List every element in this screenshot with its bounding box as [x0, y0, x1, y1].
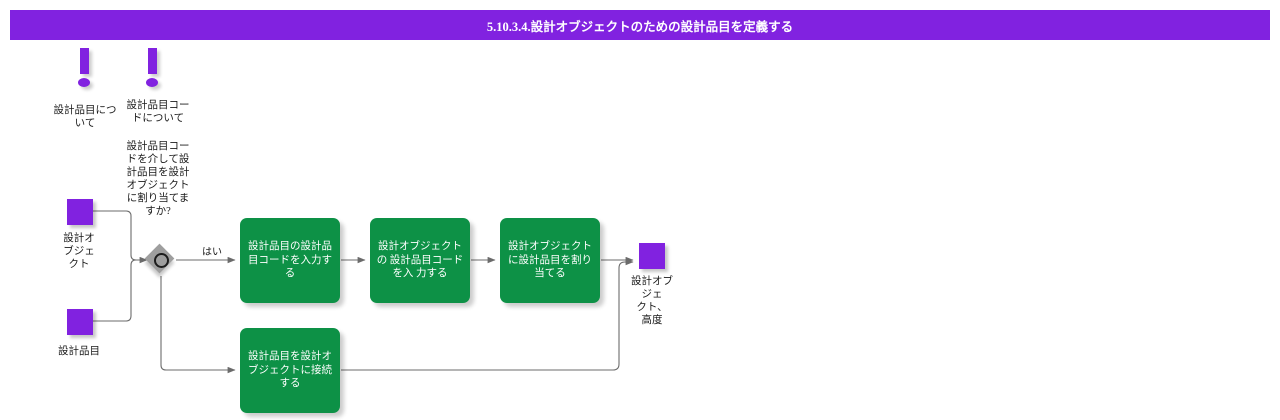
task-label: 設計オブジェクトの 設計品目コードを入 力する	[375, 240, 465, 281]
data-object-design-item-label: 設計品目	[46, 345, 112, 358]
gateway-circle-icon	[154, 253, 169, 268]
data-object-design-object-advanced-label: 設計オブ ジェ クト、 高度	[622, 275, 682, 327]
task-label: 設計品目の設計品 目コードを入力す る	[245, 240, 335, 281]
exclamation-bar	[80, 48, 89, 74]
exclamation-dot	[78, 78, 90, 87]
task-enter-object-item-code[interactable]: 設計オブジェクトの 設計品目コードを入 力する	[370, 218, 470, 303]
exclamation-dot	[146, 78, 158, 87]
edge-gateway-no	[161, 276, 235, 370]
exclamation-bar	[148, 48, 157, 74]
task-assign-item-to-object[interactable]: 設計オブジェクト に設計品目を割り 当てる	[500, 218, 600, 303]
data-object-design-item[interactable]	[67, 309, 93, 335]
task-enter-item-code[interactable]: 設計品目の設計品 目コードを入力す る	[240, 218, 340, 303]
exclamation-icon	[146, 48, 160, 88]
gateway-question-label: 設計品目コー ドを介して設 計品目を設計 オブジェクト に割り当てま すか?	[118, 140, 198, 218]
task-label: 設計オブジェクト に設計品目を割り 当てる	[505, 240, 595, 281]
gateway-yes-edge-label: はい	[202, 243, 222, 258]
data-object-design-object-advanced[interactable]	[639, 243, 665, 269]
task-connect-item-to-object[interactable]: 設計品目を設計オ ブジェクトに接続 する	[240, 328, 340, 413]
exclamation-icon	[78, 48, 92, 88]
task-label: 設計品目を設計オ ブジェクトに接続 する	[245, 350, 335, 391]
annotation-label-design-item-code: 設計品目コー ドについて	[118, 99, 198, 125]
annotation-label-design-item: 設計品目につ いて	[44, 104, 126, 130]
exclusive-gateway[interactable]	[146, 245, 176, 275]
data-object-design-object-label: 設計オ ブジェ クト	[46, 232, 112, 271]
data-object-design-object[interactable]	[67, 199, 93, 225]
page-title: 5.10.3.4.設計オブジェクトのための設計品目を定義する	[487, 16, 793, 35]
diagram-canvas: 5.10.3.4.設計オブジェクトのための設計品目を定義する 設計品目につ いて	[0, 0, 1280, 420]
page-title-bar: 5.10.3.4.設計オブジェクトのための設計品目を定義する	[10, 10, 1270, 40]
